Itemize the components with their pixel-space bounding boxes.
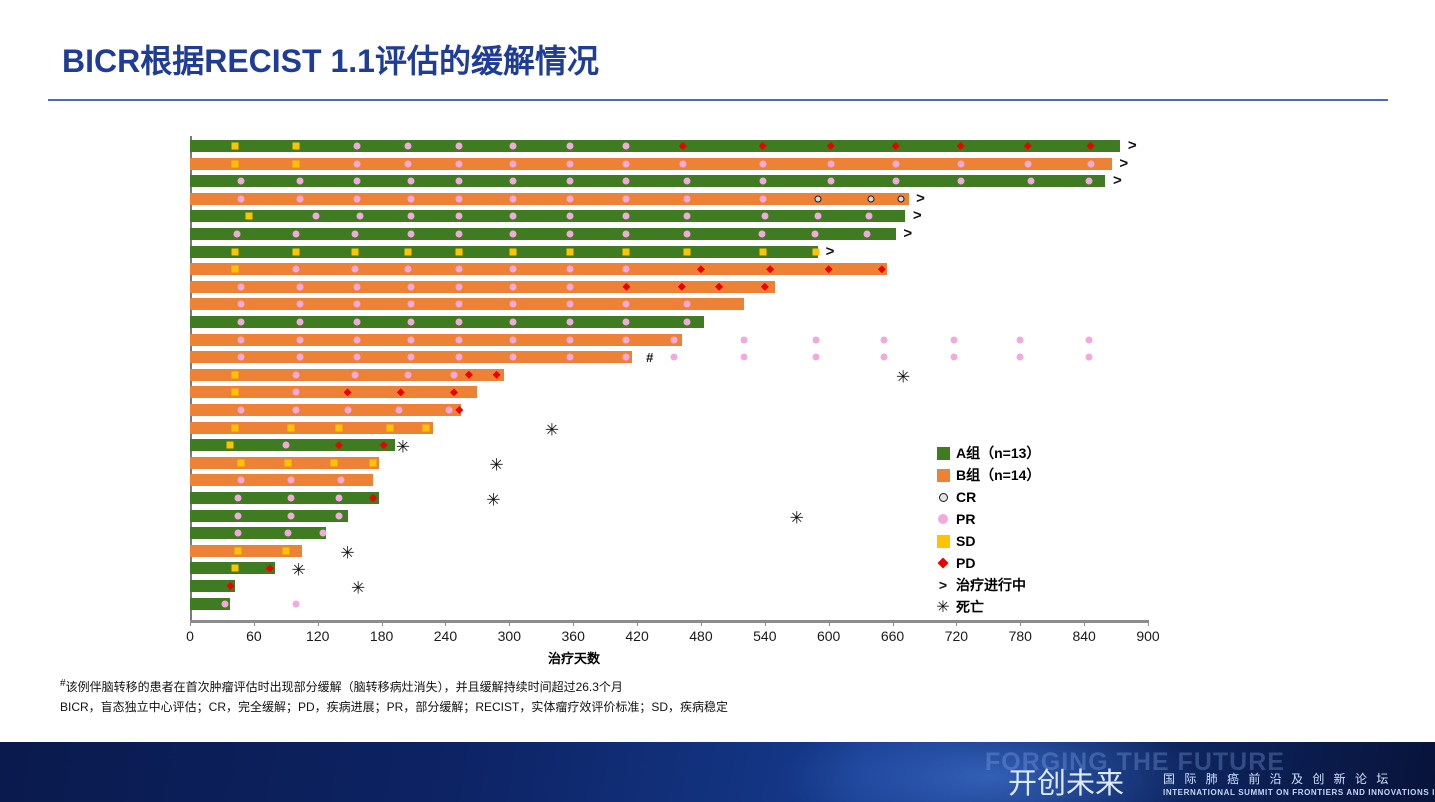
x-tick xyxy=(509,620,510,626)
ongoing-treatment-icon: > xyxy=(930,577,956,593)
response-marker-cr xyxy=(868,195,875,202)
x-tick xyxy=(254,620,255,626)
response-marker-sd xyxy=(330,459,337,466)
response-marker-pr xyxy=(567,301,574,308)
x-tick xyxy=(829,620,830,626)
response-marker-pr xyxy=(238,477,245,484)
patient-row[interactable] xyxy=(190,260,1208,278)
patient-row[interactable] xyxy=(190,278,1208,296)
response-marker-pr xyxy=(405,371,412,378)
response-marker-pr xyxy=(354,354,361,361)
x-tick xyxy=(1148,620,1149,626)
death-icon: ✳ xyxy=(930,597,956,617)
patient-row[interactable]: > xyxy=(190,137,1208,155)
legend-label: 治疗进行中 xyxy=(956,575,1026,595)
x-tick-label: 720 xyxy=(945,628,968,644)
duration-bar[interactable] xyxy=(190,246,818,258)
response-marker-pr xyxy=(238,354,245,361)
response-marker-pr xyxy=(623,266,630,273)
x-tick-label: 780 xyxy=(1009,628,1032,644)
patient-row[interactable] xyxy=(190,383,1208,401)
response-marker-pr xyxy=(238,407,245,414)
response-marker-pr xyxy=(815,213,822,220)
response-marker-pr xyxy=(623,160,630,167)
response-marker-pr xyxy=(233,231,240,238)
patient-row[interactable]: > xyxy=(190,207,1208,225)
footnotes: #该例伴脑转移的患者在首次肿瘤评估时出现部分缓解（脑转移病灶消失），并且缓解持续… xyxy=(60,676,1360,718)
patient-row[interactable]: # xyxy=(190,348,1208,366)
response-marker-sd xyxy=(238,459,245,466)
response-marker-sd xyxy=(812,248,819,255)
patient-row[interactable] xyxy=(190,331,1208,349)
response-marker-sd xyxy=(623,248,630,255)
response-marker-pr xyxy=(293,371,300,378)
legend-swatch-icon xyxy=(930,535,956,548)
response-marker-pr xyxy=(456,160,463,167)
x-tick-label: 420 xyxy=(625,628,648,644)
response-marker-pr xyxy=(509,319,516,326)
ongoing-treatment-marker: > xyxy=(1128,138,1137,153)
response-marker-pr xyxy=(296,354,303,361)
response-marker-pr xyxy=(827,160,834,167)
duration-bar[interactable] xyxy=(190,510,348,522)
legend-marker-icon xyxy=(930,493,956,502)
response-marker-pr xyxy=(293,266,300,273)
duration-bar[interactable] xyxy=(190,422,433,434)
legend-item[interactable]: >治疗进行中 xyxy=(930,576,1040,594)
ongoing-treatment-marker: > xyxy=(826,244,835,259)
response-marker-pr xyxy=(456,283,463,290)
response-marker-pr xyxy=(408,283,415,290)
legend-label: SD xyxy=(956,533,975,549)
response-marker-pr xyxy=(357,213,364,220)
duration-bar[interactable] xyxy=(190,298,744,310)
response-marker-pr xyxy=(354,301,361,308)
response-marker-pr xyxy=(957,178,964,185)
patient-row[interactable]: ✳ xyxy=(190,489,1208,507)
response-marker-sd xyxy=(293,248,300,255)
x-tick xyxy=(445,620,446,626)
legend-swatch-icon xyxy=(930,447,956,460)
response-marker-sd xyxy=(227,442,234,449)
response-marker-pr xyxy=(623,143,630,150)
response-marker-pr xyxy=(238,283,245,290)
response-marker-pr xyxy=(812,354,819,361)
legend-item[interactable]: B组（n=14） xyxy=(930,466,1040,484)
response-marker-pr xyxy=(740,354,747,361)
x-tick-label: 0 xyxy=(186,628,194,644)
response-marker-pr xyxy=(892,160,899,167)
response-marker-pr xyxy=(866,213,873,220)
response-marker-pr xyxy=(282,442,289,449)
ongoing-treatment-marker: > xyxy=(903,226,912,241)
duration-bar[interactable] xyxy=(190,140,1120,152)
x-tick xyxy=(637,620,638,626)
response-marker-pr xyxy=(456,319,463,326)
response-marker-pr xyxy=(234,512,241,519)
response-marker-pr xyxy=(351,231,358,238)
patient-row[interactable] xyxy=(190,401,1208,419)
response-marker-pr xyxy=(671,354,678,361)
response-marker-pr xyxy=(567,354,574,361)
x-tick xyxy=(382,620,383,626)
response-marker-pr xyxy=(1017,354,1024,361)
response-marker-pr xyxy=(284,530,291,537)
response-marker-pr xyxy=(234,495,241,502)
response-marker-pr xyxy=(320,530,327,537)
response-marker-pr xyxy=(567,178,574,185)
response-marker-pr xyxy=(312,213,319,220)
response-marker-pr xyxy=(509,195,516,202)
response-marker-pr xyxy=(892,178,899,185)
response-marker-pr xyxy=(509,354,516,361)
legend-label: B组（n=14） xyxy=(956,465,1040,485)
legend-item[interactable]: PD xyxy=(930,554,1040,572)
response-marker-pr xyxy=(408,213,415,220)
response-marker-pr xyxy=(238,178,245,185)
response-marker-sd xyxy=(387,424,394,431)
legend-label: PD xyxy=(956,555,975,571)
response-marker-sd xyxy=(282,547,289,554)
swimmer-plot: >>>>>>>#✳✳✳✳✳✳✳✳✳ 0601201802403003604204… xyxy=(0,0,1435,660)
response-marker-sd xyxy=(567,248,574,255)
response-marker-pr xyxy=(509,231,516,238)
response-marker-pr xyxy=(623,319,630,326)
response-marker-pr xyxy=(623,336,630,343)
response-marker-sd xyxy=(293,160,300,167)
patient-row[interactable] xyxy=(190,471,1208,489)
x-tick xyxy=(956,620,957,626)
response-marker-pr xyxy=(354,178,361,185)
legend-label: PR xyxy=(956,511,975,527)
x-axis-line xyxy=(190,620,1148,623)
response-marker-sd xyxy=(231,266,238,273)
response-marker-sd xyxy=(231,565,238,572)
duration-bar[interactable] xyxy=(190,281,775,293)
response-marker-sd xyxy=(231,424,238,431)
response-marker-pr xyxy=(395,407,402,414)
x-tick xyxy=(765,620,766,626)
response-marker-pr xyxy=(567,160,574,167)
chart-legend: A组（n=13）B组（n=14）CRPRSDPD>治疗进行中✳死亡 xyxy=(930,444,1040,616)
legend-item[interactable]: CR xyxy=(930,488,1040,506)
x-tick-label: 840 xyxy=(1072,628,1095,644)
x-tick xyxy=(1020,620,1021,626)
response-marker-sd xyxy=(245,213,252,220)
response-marker-pr xyxy=(456,178,463,185)
x-tick xyxy=(1084,620,1085,626)
patient-row[interactable]: ✳ xyxy=(190,419,1208,437)
x-tick-label: 480 xyxy=(689,628,712,644)
response-marker-pr xyxy=(509,160,516,167)
x-tick-label: 660 xyxy=(881,628,904,644)
response-marker-pr xyxy=(336,512,343,519)
patient-row[interactable]: > xyxy=(190,243,1208,261)
response-marker-sd xyxy=(423,424,430,431)
response-marker-pr xyxy=(445,407,452,414)
patient-row[interactable]: ✳ xyxy=(190,577,1208,595)
response-marker-pr xyxy=(740,336,747,343)
x-tick-label: 360 xyxy=(562,628,585,644)
response-marker-pr xyxy=(761,213,768,220)
response-marker-pr xyxy=(623,195,630,202)
x-tick xyxy=(701,620,702,626)
patient-row[interactable] xyxy=(190,313,1208,331)
response-marker-pr xyxy=(567,266,574,273)
response-marker-pr xyxy=(296,195,303,202)
response-marker-pr xyxy=(1024,160,1031,167)
response-marker-sd xyxy=(456,248,463,255)
response-marker-pr xyxy=(684,319,691,326)
response-marker-sd xyxy=(370,459,377,466)
response-marker-pr xyxy=(288,477,295,484)
response-marker-pr xyxy=(351,371,358,378)
response-marker-pr xyxy=(238,195,245,202)
legend-item[interactable]: ✳死亡 xyxy=(930,598,1040,616)
response-marker-pr xyxy=(951,354,958,361)
ongoing-treatment-marker: > xyxy=(1119,156,1128,171)
response-marker-pr xyxy=(354,195,361,202)
response-marker-pr xyxy=(509,143,516,150)
response-marker-pr xyxy=(827,178,834,185)
response-marker-pr xyxy=(623,301,630,308)
response-marker-sd xyxy=(759,248,766,255)
patient-row[interactable]: > xyxy=(190,190,1208,208)
response-marker-pr xyxy=(456,301,463,308)
response-marker-pr xyxy=(509,283,516,290)
patient-row[interactable]: ✳ xyxy=(190,507,1208,525)
x-tick-label: 120 xyxy=(306,628,329,644)
response-marker-pr xyxy=(509,213,516,220)
response-marker-pr xyxy=(222,600,229,607)
x-tick-label: 540 xyxy=(753,628,776,644)
response-marker-pr xyxy=(679,160,686,167)
response-marker-pr xyxy=(623,178,630,185)
response-marker-pr xyxy=(293,407,300,414)
response-marker-pr xyxy=(296,283,303,290)
response-marker-pr xyxy=(759,178,766,185)
response-marker-pr xyxy=(1027,178,1034,185)
patient-row[interactable]: > xyxy=(190,172,1208,190)
response-marker-pr xyxy=(684,195,691,202)
response-marker-pr xyxy=(408,319,415,326)
patient-row[interactable]: ✳ xyxy=(190,559,1208,577)
patient-row[interactable] xyxy=(190,595,1208,613)
response-marker-pr xyxy=(344,407,351,414)
footer-subtitle-en: INTERNATIONAL SUMMIT ON FRONTIERS AND IN… xyxy=(1163,788,1435,797)
response-marker-pr xyxy=(456,231,463,238)
footnote-marker: # xyxy=(646,351,653,364)
patient-row[interactable] xyxy=(190,524,1208,542)
response-marker-pr xyxy=(338,477,345,484)
ongoing-treatment-marker: > xyxy=(1113,173,1122,188)
response-marker-pr xyxy=(1086,354,1093,361)
response-marker-pr xyxy=(623,354,630,361)
response-marker-pr xyxy=(567,213,574,220)
response-marker-pr xyxy=(354,143,361,150)
response-marker-sd xyxy=(684,248,691,255)
response-marker-pr xyxy=(509,336,516,343)
patient-row[interactable]: ✳ xyxy=(190,542,1208,560)
response-marker-sd xyxy=(284,459,291,466)
response-marker-pr xyxy=(408,231,415,238)
response-marker-pr xyxy=(684,231,691,238)
patient-row[interactable]: ✳ xyxy=(190,366,1208,384)
legend-item[interactable]: PR xyxy=(930,510,1040,528)
response-marker-pr xyxy=(567,319,574,326)
response-marker-pr xyxy=(354,160,361,167)
response-marker-pr xyxy=(567,143,574,150)
response-marker-sd xyxy=(234,547,241,554)
response-marker-pr xyxy=(296,319,303,326)
x-tick-label: 180 xyxy=(370,628,393,644)
duration-bar[interactable] xyxy=(190,527,326,539)
response-marker-sd xyxy=(405,248,412,255)
response-marker-pr xyxy=(684,213,691,220)
response-marker-sd xyxy=(231,389,238,396)
response-marker-pr xyxy=(405,266,412,273)
patient-row[interactable]: > xyxy=(190,155,1208,173)
response-marker-pr xyxy=(881,354,888,361)
response-marker-pr xyxy=(509,301,516,308)
response-marker-pr xyxy=(671,336,678,343)
response-marker-sd xyxy=(336,424,343,431)
response-marker-pr xyxy=(293,389,300,396)
duration-bar[interactable] xyxy=(190,334,682,346)
duration-bar[interactable] xyxy=(190,439,395,451)
duration-bar[interactable] xyxy=(190,210,905,222)
x-tick xyxy=(573,620,574,626)
duration-bar[interactable] xyxy=(190,404,461,416)
patient-row[interactable]: > xyxy=(190,225,1208,243)
response-marker-pr xyxy=(351,266,358,273)
response-marker-sd xyxy=(231,371,238,378)
response-marker-pr xyxy=(863,231,870,238)
response-marker-pr xyxy=(293,231,300,238)
response-marker-pr xyxy=(408,354,415,361)
response-marker-pr xyxy=(623,213,630,220)
response-marker-pr xyxy=(354,319,361,326)
duration-bar[interactable] xyxy=(190,175,1105,187)
response-marker-pr xyxy=(456,336,463,343)
x-tick-label: 240 xyxy=(434,628,457,644)
response-marker-pr xyxy=(234,530,241,537)
response-marker-pr xyxy=(354,283,361,290)
patient-row[interactable] xyxy=(190,295,1208,313)
response-marker-sd xyxy=(293,143,300,150)
response-marker-sd xyxy=(231,143,238,150)
duration-bar[interactable] xyxy=(190,492,379,504)
response-marker-pr xyxy=(1017,336,1024,343)
response-marker-pr xyxy=(296,301,303,308)
ongoing-treatment-marker: > xyxy=(913,209,922,224)
response-marker-pr xyxy=(408,301,415,308)
response-marker-pr xyxy=(812,336,819,343)
response-marker-pr xyxy=(408,336,415,343)
response-marker-pr xyxy=(456,195,463,202)
legend-marker-icon xyxy=(930,558,956,569)
response-marker-pr xyxy=(450,371,457,378)
response-marker-pr xyxy=(408,178,415,185)
response-marker-pr xyxy=(1086,336,1093,343)
response-marker-pr xyxy=(288,495,295,502)
response-marker-pr xyxy=(456,213,463,220)
response-marker-pr xyxy=(293,600,300,607)
response-marker-sd xyxy=(351,248,358,255)
patient-row[interactable]: ✳ xyxy=(190,454,1208,472)
response-marker-pr xyxy=(811,231,818,238)
response-marker-pr xyxy=(684,178,691,185)
patient-row[interactable]: ✳ xyxy=(190,436,1208,454)
legend-swatch-icon xyxy=(930,469,956,482)
response-marker-pr xyxy=(951,336,958,343)
response-marker-pr xyxy=(509,178,516,185)
response-marker-pr xyxy=(881,336,888,343)
response-marker-cr xyxy=(898,195,905,202)
response-marker-pr xyxy=(759,195,766,202)
x-tick xyxy=(318,620,319,626)
response-marker-pr xyxy=(567,336,574,343)
legend-label: A组（n=13） xyxy=(956,443,1040,463)
footnote-line-1: #该例伴脑转移的患者在首次肿瘤评估时出现部分缓解（脑转移病灶消失），并且缓解持续… xyxy=(60,676,1360,698)
x-tick-label: 900 xyxy=(1136,628,1159,644)
legend-item[interactable]: SD xyxy=(930,532,1040,550)
response-marker-sd xyxy=(231,160,238,167)
duration-bar[interactable] xyxy=(190,474,373,486)
response-marker-pr xyxy=(354,336,361,343)
response-marker-sd xyxy=(288,424,295,431)
response-marker-pr xyxy=(288,512,295,519)
response-marker-sd xyxy=(231,248,238,255)
response-marker-pr xyxy=(408,195,415,202)
ongoing-treatment-marker: > xyxy=(916,191,925,206)
response-marker-sd xyxy=(509,248,516,255)
response-marker-pr xyxy=(509,266,516,273)
duration-bar[interactable] xyxy=(190,158,1112,170)
response-marker-cr xyxy=(815,195,822,202)
legend-marker-icon xyxy=(930,514,956,524)
response-marker-pr xyxy=(405,143,412,150)
legend-label: CR xyxy=(956,489,976,505)
response-marker-pr xyxy=(456,266,463,273)
response-marker-pr xyxy=(957,160,964,167)
x-tick-label: 300 xyxy=(498,628,521,644)
response-marker-pr xyxy=(567,231,574,238)
response-marker-pr xyxy=(567,195,574,202)
legend-label: 死亡 xyxy=(956,597,984,617)
response-marker-pr xyxy=(238,301,245,308)
response-marker-pr xyxy=(1086,178,1093,185)
response-marker-pr xyxy=(296,178,303,185)
footer-subtitle-cn: 国 际 肺 癌 前 沿 及 创 新 论 坛 xyxy=(1163,770,1391,787)
response-marker-pr xyxy=(336,495,343,502)
x-axis-title: 治疗天数 xyxy=(0,648,1148,667)
footnote-line-2: BICR，盲态独立中心评估；CR，完全缓解；PD，疾病进展；PR，部分缓解；RE… xyxy=(60,698,1360,718)
response-marker-pr xyxy=(623,231,630,238)
response-marker-pr xyxy=(1087,160,1094,167)
response-marker-pr xyxy=(405,160,412,167)
legend-item[interactable]: A组（n=13） xyxy=(930,444,1040,462)
response-marker-pr xyxy=(567,283,574,290)
response-marker-pr xyxy=(759,160,766,167)
x-tick xyxy=(893,620,894,626)
response-marker-pr xyxy=(456,143,463,150)
response-marker-pr xyxy=(296,336,303,343)
footer-brand-cn: 开创未来 xyxy=(1008,760,1124,802)
response-marker-pr xyxy=(456,354,463,361)
x-tick xyxy=(190,620,191,626)
x-tick-label: 60 xyxy=(246,628,262,644)
